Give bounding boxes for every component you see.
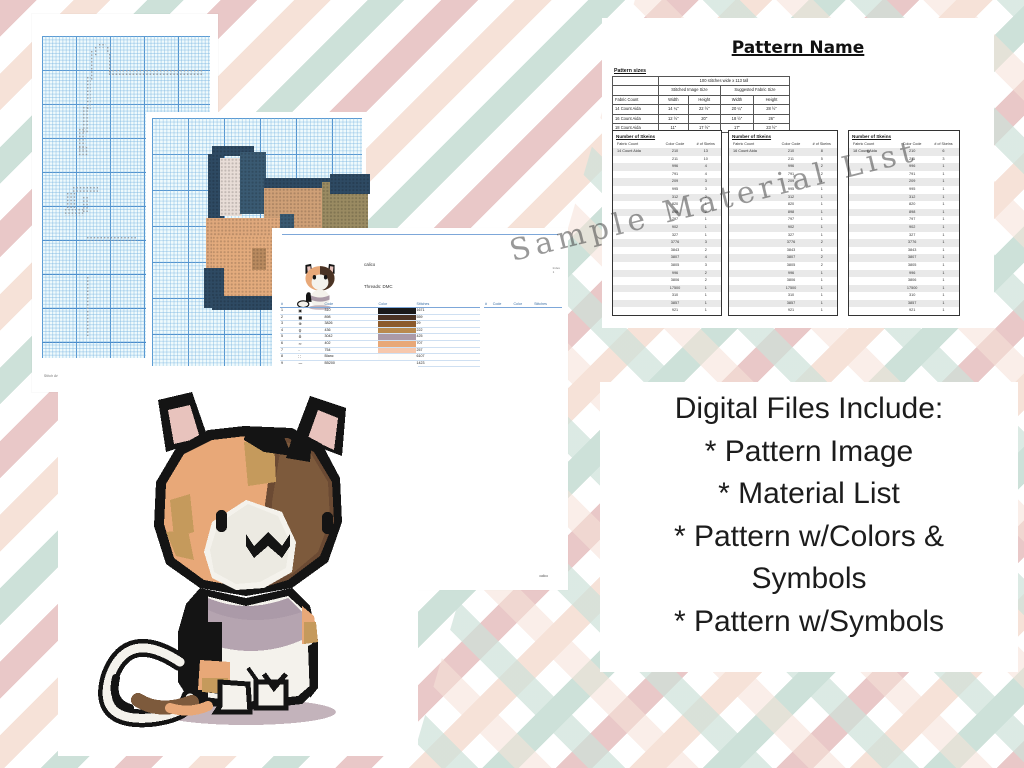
legend-row-code: 754 <box>324 347 378 354</box>
skein-color-code: 3776 <box>896 239 928 247</box>
skein-fabric-count <box>729 270 775 278</box>
skein-fabric-count <box>613 186 659 194</box>
skein-row: 3121 <box>729 194 837 202</box>
pattern-sizes-col-height-2: Height <box>754 95 790 104</box>
skein-count: 1 <box>807 209 837 217</box>
skein-count: 1 <box>691 232 721 240</box>
skein-header-cell: Fabric Count <box>849 141 896 148</box>
legend-row: 7·754257 <box>280 347 480 354</box>
skein-color-code: 3843 <box>659 247 690 255</box>
skein-row: 9951 <box>849 186 959 194</box>
skein-count: 1 <box>807 307 837 315</box>
skein-fabric-count <box>613 277 659 285</box>
skein-color-code: 310 <box>896 292 928 300</box>
skein-count: 3 <box>928 156 959 164</box>
copy-line-0: Digital Files Include: <box>675 388 943 431</box>
pattern-sizes-cell: 20 ¼" <box>720 105 753 114</box>
skein-row: 7911 <box>849 171 959 179</box>
skein-count: 1 <box>928 247 959 255</box>
skein-count: 1 <box>928 209 959 217</box>
copy-line-3: * Pattern w/Colors & <box>674 516 944 559</box>
legend-row: 4♀436222 <box>280 327 480 334</box>
skein-header-cell: Color Code <box>775 141 806 148</box>
skein-row: 9961 <box>849 163 959 171</box>
skein-count: 2 <box>691 277 721 285</box>
skein-color-code: 820 <box>896 201 928 209</box>
pattern-sizes-cell: 18 ½" <box>720 114 753 123</box>
skein-fabric-count <box>729 247 775 255</box>
legend-row-number: 1 <box>280 308 297 315</box>
skein-color-code: 209 <box>659 178 690 186</box>
pattern-sizes-col-width-1: Width <box>658 95 688 104</box>
skein-count: 1 <box>928 216 959 224</box>
legend-row-stitches: 1423 <box>416 360 480 367</box>
legend-row-number: 3 <box>280 321 297 328</box>
legend-row-stitches: 559 <box>416 314 480 321</box>
legend-r-col-code: Code <box>492 302 513 308</box>
pattern-sizes-note-row: x 100 stitches wide x 113 tall <box>613 77 790 86</box>
skein-fabric-count: 14 Count Aida <box>613 148 659 156</box>
skein-row: 2113 <box>849 156 959 164</box>
skein-row: 38051 <box>849 262 959 270</box>
skein-box-16-label: Number of Skeins <box>729 131 837 141</box>
skein-row: 37762 <box>729 239 837 247</box>
skein-count: 1 <box>691 216 721 224</box>
skein-fabric-count <box>849 270 896 278</box>
skein-color-code: 3857 <box>659 300 690 308</box>
skein-fabric-count <box>849 216 896 224</box>
skein-header-cell: # of Skeins <box>691 141 721 148</box>
skein-row: 38571 <box>613 300 721 308</box>
skein-row: 38053 <box>613 262 721 270</box>
skein-color-code: 3807 <box>896 254 928 262</box>
skein-row: 9951 <box>729 186 837 194</box>
legend-row-stitches: 707 <box>416 340 480 347</box>
legend-row-stitches: 29 <box>416 321 480 328</box>
skein-row: 9962 <box>729 163 837 171</box>
legend-row-symbol: ▣ <box>297 308 323 315</box>
skein-row: 9962 <box>613 270 721 278</box>
skein-color-code: 921 <box>659 307 690 315</box>
skein-color-code: 996 <box>659 270 690 278</box>
legend-row-number: 7 <box>280 347 297 354</box>
legend-row-symbol: ♁ <box>297 334 323 341</box>
skein-count: 1 <box>691 201 721 209</box>
skein-color-code: 921 <box>775 307 806 315</box>
pattern-sizes-cell: 26" <box>754 114 790 123</box>
skein-fabric-count <box>849 209 896 217</box>
skein-color-code: 3807 <box>775 254 806 262</box>
legend-table: # Code Color Stitches 1▣31016712■8985593… <box>280 302 480 367</box>
skein-color-code: 995 <box>896 186 928 194</box>
skein-count: 1 <box>928 300 959 308</box>
skein-row: 8981 <box>729 209 837 217</box>
skein-fabric-count: 18 Count Aida <box>849 148 896 156</box>
skein-count: 1 <box>807 277 837 285</box>
skein-row: 9021 <box>849 224 959 232</box>
skein-fabric-count <box>613 209 659 217</box>
legend-row-stitches: 222 <box>416 327 480 334</box>
skein-row: 7971 <box>729 216 837 224</box>
legend-row-color-swatch <box>378 340 416 347</box>
skein-count: 3 <box>691 262 721 270</box>
skein-count: 1 <box>807 285 837 293</box>
calico-cat-illustration <box>96 382 378 732</box>
skein-row: 9211 <box>613 307 721 315</box>
skein-row: 2115 <box>729 156 837 164</box>
legend-table-right-empty: # Code Color Stitches <box>484 302 562 308</box>
skein-count: 3 <box>691 239 721 247</box>
skein-fabric-count <box>729 285 775 293</box>
skein-count: 1 <box>807 201 837 209</box>
skein-row: 9211 <box>849 307 959 315</box>
legend-row-color-swatch <box>378 327 416 334</box>
skein-row: 7912 <box>729 171 837 179</box>
skein-count: 1 <box>928 307 959 315</box>
pattern-sizes-col-fabric-count: Fabric Count <box>613 95 659 104</box>
skein-fabric-count <box>849 194 896 202</box>
skein-fabric-count <box>729 216 775 224</box>
skein-color-code: 791 <box>896 171 928 179</box>
page-title: Pattern Name <box>602 38 994 58</box>
skein-fabric-count <box>613 292 659 300</box>
skein-color-code: 797 <box>896 216 928 224</box>
skein-count: 1 <box>928 262 959 270</box>
skein-count: 1 <box>928 277 959 285</box>
skein-color-code: 327 <box>896 232 928 240</box>
skein-row: 3101 <box>613 292 721 300</box>
skein-count: 1 <box>807 194 837 202</box>
skein-color-code: 211 <box>896 156 928 164</box>
skein-row: 3271 <box>849 232 959 240</box>
skein-color-code: 3843 <box>775 247 806 255</box>
skein-header-cell: Color Code <box>659 141 690 148</box>
skein-color-code: 3806 <box>896 277 928 285</box>
pattern-sizes-col-height-1: Height <box>688 95 720 104</box>
skein-count: 2 <box>807 254 837 262</box>
skein-fabric-count <box>729 232 775 240</box>
legend-row-code: 3826 <box>324 321 378 328</box>
skein-count: 1 <box>928 186 959 194</box>
legend-row-symbol: ≈ <box>297 340 323 347</box>
skein-color-code: 310 <box>775 292 806 300</box>
skein-row: 38074 <box>613 254 721 262</box>
material-list-page: Pattern Name Pattern sizes x 100 stitche… <box>602 18 994 328</box>
skein-count: 1 <box>691 292 721 300</box>
skein-fabric-count <box>849 186 896 194</box>
legend-row: 8∷Blanc6107 <box>280 354 480 361</box>
skein-color-code: 3806 <box>775 277 806 285</box>
pattern-sizes-label: Pattern sizes <box>614 68 646 74</box>
legend-row-stitches: 425 <box>416 334 480 341</box>
legend-footer-right: calico <box>539 574 548 578</box>
skein-color-code: 820 <box>775 201 806 209</box>
skein-row: 9961 <box>849 270 959 278</box>
skein-fabric-count <box>729 201 775 209</box>
legend-row: 2■898559 <box>280 314 480 321</box>
legend-row-code: 310 <box>324 308 378 315</box>
skein-row: 38072 <box>729 254 837 262</box>
skein-count: 2 <box>807 171 837 179</box>
skein-count: 1 <box>928 224 959 232</box>
skein-color-code: 3776 <box>775 239 806 247</box>
skein-fabric-count <box>613 247 659 255</box>
legend-row-symbol: ■ <box>297 314 323 321</box>
skein-row: 38431 <box>849 247 959 255</box>
skein-row: 175001 <box>729 285 837 293</box>
skein-fabric-count <box>613 254 659 262</box>
skein-fabric-count <box>729 224 775 232</box>
skein-color-code: 996 <box>896 270 928 278</box>
legend-row-color-swatch <box>378 347 416 354</box>
skein-row: 3122 <box>613 194 721 202</box>
pattern-sizes-group-row: Stitched Image Size Suggested Fabric Siz… <box>613 86 790 95</box>
skein-count: 6 <box>928 148 959 156</box>
skein-row: 37761 <box>849 239 959 247</box>
skein-color-code: 820 <box>659 201 690 209</box>
skein-row: 3101 <box>729 292 837 300</box>
skein-color-code: 898 <box>659 209 690 217</box>
skein-fabric-count <box>849 201 896 209</box>
skein-count: 3 <box>691 178 721 186</box>
skein-color-code: 995 <box>659 186 690 194</box>
skein-row: 3121 <box>849 194 959 202</box>
skein-color-code: 209 <box>775 178 806 186</box>
skein-row: 3101 <box>849 292 959 300</box>
pattern-sizes-group-stitched: Stitched Image Size <box>658 86 720 95</box>
skein-box-16-count: Number of Skeins Fabric CountColor Code#… <box>728 130 838 316</box>
skein-count: 5 <box>807 156 837 164</box>
skein-fabric-count <box>849 262 896 270</box>
skein-color-code: 902 <box>896 224 928 232</box>
skein-row: 7971 <box>849 216 959 224</box>
skein-count: 1 <box>928 194 959 202</box>
skein-fabric-count <box>613 224 659 232</box>
pattern-sizes-row: 16 Count Aida12 ½"20"18 ½"26" <box>613 114 790 123</box>
skein-row: 8981 <box>849 209 959 217</box>
skein-header-row: Fabric CountColor Code# of Skeins <box>613 141 721 148</box>
skein-fabric-count <box>729 209 775 217</box>
pattern-sizes-table: x 100 stitches wide x 113 tall Stitched … <box>612 76 790 133</box>
legend-r-col-number: # <box>484 302 492 308</box>
skein-header-cell: # of Skeins <box>807 141 837 148</box>
skein-color-code: 797 <box>775 216 806 224</box>
skein-count: 1 <box>928 270 959 278</box>
skein-count: 1 <box>807 247 837 255</box>
skein-count: 13 <box>691 148 721 156</box>
skein-fabric-count <box>849 156 896 164</box>
copy-line-4: Symbols <box>751 558 866 601</box>
pattern-sizes-group-blank <box>613 86 659 95</box>
skein-count: 2 <box>691 247 721 255</box>
skein-fabric-count <box>613 270 659 278</box>
legend-row: 1▣3101671 <box>280 308 480 315</box>
skein-fabric-count <box>613 201 659 209</box>
skein-color-code: 996 <box>775 270 806 278</box>
skein-fabric-count <box>729 156 775 164</box>
legend-row-color-swatch <box>378 334 416 341</box>
skein-row: 21110 <box>613 156 721 164</box>
skein-count: 2 <box>807 163 837 171</box>
skein-color-code: 996 <box>775 163 806 171</box>
skein-count: 1 <box>928 171 959 179</box>
skein-fabric-count <box>613 307 659 315</box>
skein-header-row: Fabric CountColor Code# of Skeins <box>849 141 959 148</box>
skein-color-code: 17500 <box>659 285 690 293</box>
skein-color-code: 3805 <box>659 262 690 270</box>
skein-count: 1 <box>928 285 959 293</box>
skein-row: 38061 <box>849 277 959 285</box>
skein-header-cell: # of Skeins <box>928 141 959 148</box>
legend-header-row-right: # Code Color Stitches <box>484 302 562 308</box>
skein-count: 2 <box>691 194 721 202</box>
skein-fabric-count <box>729 277 775 285</box>
skein-fabric-count <box>613 239 659 247</box>
legend-row-symbol: ⊕ <box>297 321 323 328</box>
skein-fabric-count <box>729 292 775 300</box>
skein-fabric-count <box>729 262 775 270</box>
skein-fabric-count <box>729 171 775 179</box>
skein-table-14: Fabric CountColor Code# of Skeins14 Coun… <box>613 141 721 315</box>
skein-color-code: 17500 <box>896 285 928 293</box>
legend-r-col-stitches: Stitches <box>533 302 562 308</box>
skein-table-18: Fabric CountColor Code# of Skeins18 Coun… <box>849 141 959 315</box>
legend-index-label: Index1 <box>553 266 560 274</box>
skein-color-code: 312 <box>896 194 928 202</box>
skein-color-code: 3776 <box>659 239 690 247</box>
skein-row: 2091 <box>849 178 959 186</box>
copy-line-1: * Pattern Image <box>705 431 913 474</box>
skein-fabric-count: 16 Count Aida <box>729 148 775 156</box>
skein-row: 9961 <box>729 270 837 278</box>
skein-count: 4 <box>691 254 721 262</box>
skein-fabric-count <box>613 194 659 202</box>
skein-row: 9211 <box>729 307 837 315</box>
skein-row: 8201 <box>849 201 959 209</box>
pattern-sizes-cell: 16 Count Aida <box>613 114 659 123</box>
skein-row: 8982 <box>613 209 721 217</box>
skein-color-code: 211 <box>775 156 806 164</box>
skein-count: 1 <box>928 292 959 300</box>
skein-fabric-count <box>729 194 775 202</box>
digital-files-include-block: Digital Files Include: * Pattern Image *… <box>600 382 1018 672</box>
skein-fabric-count <box>613 163 659 171</box>
skein-header-cell: Color Code <box>896 141 928 148</box>
skein-count: 3 <box>691 186 721 194</box>
skein-fabric-count <box>613 171 659 179</box>
skein-color-code: 791 <box>659 171 690 179</box>
skein-row: 38071 <box>849 254 959 262</box>
skein-fabric-count <box>849 285 896 293</box>
legend-r-col-color: Color <box>512 302 533 308</box>
skein-row: 2091 <box>729 178 837 186</box>
legend-top-rule <box>282 234 558 235</box>
skein-count: 1 <box>807 224 837 232</box>
pattern-sizes-cell: 14 ¼" <box>658 105 688 114</box>
skein-color-code: 210 <box>896 148 928 156</box>
skein-count: 1 <box>928 254 959 262</box>
skein-count: 1 <box>807 178 837 186</box>
skein-color-code: 310 <box>659 292 690 300</box>
skein-count: 1 <box>928 163 959 171</box>
skein-count: 1 <box>807 292 837 300</box>
skein-color-code: 209 <box>896 178 928 186</box>
skein-fabric-count <box>613 262 659 270</box>
skein-row: 38571 <box>849 300 959 308</box>
skein-color-code: 996 <box>896 163 928 171</box>
skein-color-code: 3857 <box>896 300 928 308</box>
legend-row-number: 8 <box>280 354 297 361</box>
legend-row-number: 6 <box>280 340 297 347</box>
skein-count: 1 <box>928 232 959 240</box>
skein-box-18-label: Number of Skeins <box>849 131 959 141</box>
legend-row-code: 898 <box>324 314 378 321</box>
skein-header-cell: Fabric Count <box>729 141 775 148</box>
skein-row: 2093 <box>613 178 721 186</box>
skein-fabric-count <box>849 239 896 247</box>
legend-row-color-swatch <box>378 321 416 328</box>
skein-box-14-count: Number of Skeins Fabric CountColor Code#… <box>612 130 722 316</box>
skein-row: 18 Count Aida2106 <box>849 148 959 156</box>
skein-row: 3271 <box>613 232 721 240</box>
skein-count: 10 <box>691 156 721 164</box>
skein-row: 9953 <box>613 186 721 194</box>
pattern-sizes-row: 14 Count Aida14 ¼"22 ½"20 ¼"28 ½" <box>613 105 790 114</box>
legend-row-code: 436 <box>324 327 378 334</box>
legend-row-stitches: 6107 <box>416 354 480 361</box>
skein-row: 38571 <box>729 300 837 308</box>
pattern-sizes-stitch-note: 100 stitches wide x 113 tall <box>658 77 789 86</box>
skein-fabric-count <box>729 307 775 315</box>
pattern-preview-page <box>58 366 418 756</box>
skein-fabric-count <box>613 178 659 186</box>
legend-row-stitches: 257 <box>416 347 480 354</box>
legend-row-stitches: 1671 <box>416 308 480 315</box>
skein-row: 3271 <box>729 232 837 240</box>
skein-row: 9021 <box>729 224 837 232</box>
skein-fabric-count <box>849 307 896 315</box>
skein-count: 2 <box>807 262 837 270</box>
skein-count: 1 <box>807 270 837 278</box>
skein-fabric-count <box>613 285 659 293</box>
skein-color-code: 902 <box>659 224 690 232</box>
skein-fabric-count <box>729 186 775 194</box>
skein-color-code: 791 <box>775 171 806 179</box>
legend-row-code: 402 <box>324 340 378 347</box>
skein-count: 2 <box>691 209 721 217</box>
legend-row-color-swatch <box>378 354 416 361</box>
skein-box-14-label: Number of Skeins <box>613 131 721 141</box>
copy-line-5: * Pattern w/Symbols <box>674 601 944 644</box>
skein-color-code: 3805 <box>896 262 928 270</box>
skein-fabric-count <box>729 163 775 171</box>
skein-fabric-count <box>849 178 896 186</box>
skein-header-row: Fabric CountColor Code# of Skeins <box>729 141 837 148</box>
skein-fabric-count <box>613 232 659 240</box>
skein-row: 38431 <box>729 247 837 255</box>
skein-box-18-count: Number of Skeins Fabric CountColor Code#… <box>848 130 960 316</box>
skein-color-code: 921 <box>896 307 928 315</box>
skein-fabric-count <box>729 300 775 308</box>
legend-row-symbol: ♀ <box>297 327 323 334</box>
copy-line-2: * Material List <box>718 473 900 516</box>
skein-count: 1 <box>807 186 837 194</box>
skein-row: 38052 <box>729 262 837 270</box>
legend-row-number: 5 <box>280 334 297 341</box>
skein-fabric-count <box>849 292 896 300</box>
legend-row-code: Blanc <box>324 354 378 361</box>
skein-row: 175001 <box>849 285 959 293</box>
